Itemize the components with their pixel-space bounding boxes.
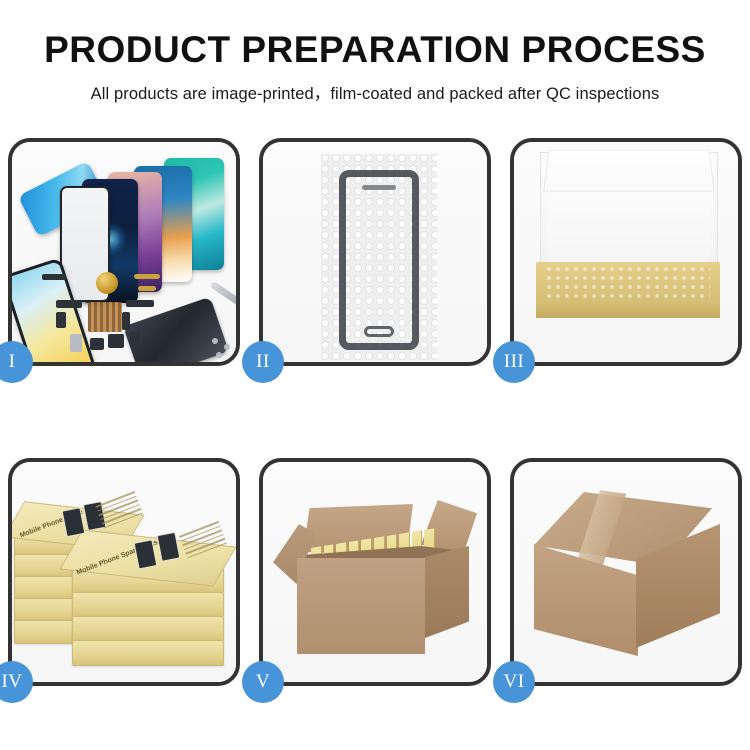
process-step-2: II — [259, 138, 491, 366]
earpiece-slot-icon — [362, 185, 396, 190]
step-5-image — [263, 462, 487, 682]
tweezers-icon — [210, 281, 236, 310]
connector-icon — [56, 300, 82, 308]
process-step-4: Mobile Phone Spare Parts Mobile Phone Sp… — [8, 458, 240, 686]
cable-ribbon-icon — [126, 300, 154, 307]
kraft-box-tray-icon — [536, 262, 720, 318]
screw-icon — [216, 352, 222, 358]
camera-module-icon — [122, 312, 130, 330]
header: PRODUCT PREPARATION PROCESS All products… — [0, 0, 750, 104]
step-2-image — [263, 142, 487, 362]
screw-icon — [212, 338, 218, 344]
process-step-6: VI — [510, 458, 742, 686]
page-title: PRODUCT PREPARATION PROCESS — [0, 30, 750, 71]
speaker-coil-icon — [96, 272, 118, 294]
battery-cell-icon — [70, 334, 82, 352]
home-button-icon — [364, 326, 394, 337]
flex-cable-icon — [134, 274, 160, 279]
process-step-grid: I II III — [8, 138, 742, 686]
step-badge-3: III — [493, 341, 535, 383]
step-badge-2: II — [242, 341, 284, 383]
carton-front-icon — [297, 558, 425, 654]
bubble-wrap-icon — [321, 154, 437, 360]
vibrator-icon — [90, 338, 104, 350]
box-front-edge-icon — [536, 300, 720, 318]
tape-patch-icon — [574, 640, 590, 660]
carton-side-icon — [425, 546, 469, 638]
box-stack-icon: Mobile Phone Spare Parts Mobile Phone Sp… — [14, 480, 236, 680]
screw-grid-icon — [88, 302, 122, 332]
step-4-image: Mobile Phone Spare Parts Mobile Phone Sp… — [12, 462, 236, 682]
step-badge-5: V — [242, 661, 284, 703]
page-subtitle: All products are image-printed，film-coat… — [0, 80, 750, 104]
screw-icon — [224, 344, 230, 350]
phone-parts-scene — [12, 142, 236, 362]
stacked-box — [72, 616, 224, 642]
wrapped-screen-icon — [546, 266, 710, 300]
process-step-3: III — [510, 138, 742, 366]
stacked-box — [72, 640, 224, 666]
buzzer-icon — [108, 334, 124, 348]
stacked-box — [72, 592, 224, 618]
process-step-1: I — [8, 138, 240, 366]
lid-spec-lines-icon — [179, 521, 228, 561]
lid-phone-image-icon — [157, 532, 181, 562]
step-3-image — [514, 142, 738, 362]
foam-lid-icon — [543, 150, 714, 192]
process-step-5: V — [259, 458, 491, 686]
part-strip-icon — [42, 274, 66, 280]
sim-tray-icon — [130, 332, 140, 346]
bracket-icon — [56, 312, 66, 328]
step-badge-6: VI — [493, 661, 535, 703]
screen-frame-icon — [339, 170, 419, 350]
carton-front-face-icon — [534, 544, 638, 656]
step-1-image — [12, 142, 236, 362]
flex-cable-small-icon — [138, 286, 156, 291]
step-6-image — [514, 462, 738, 682]
lid-spec-lines-icon — [95, 491, 144, 531]
